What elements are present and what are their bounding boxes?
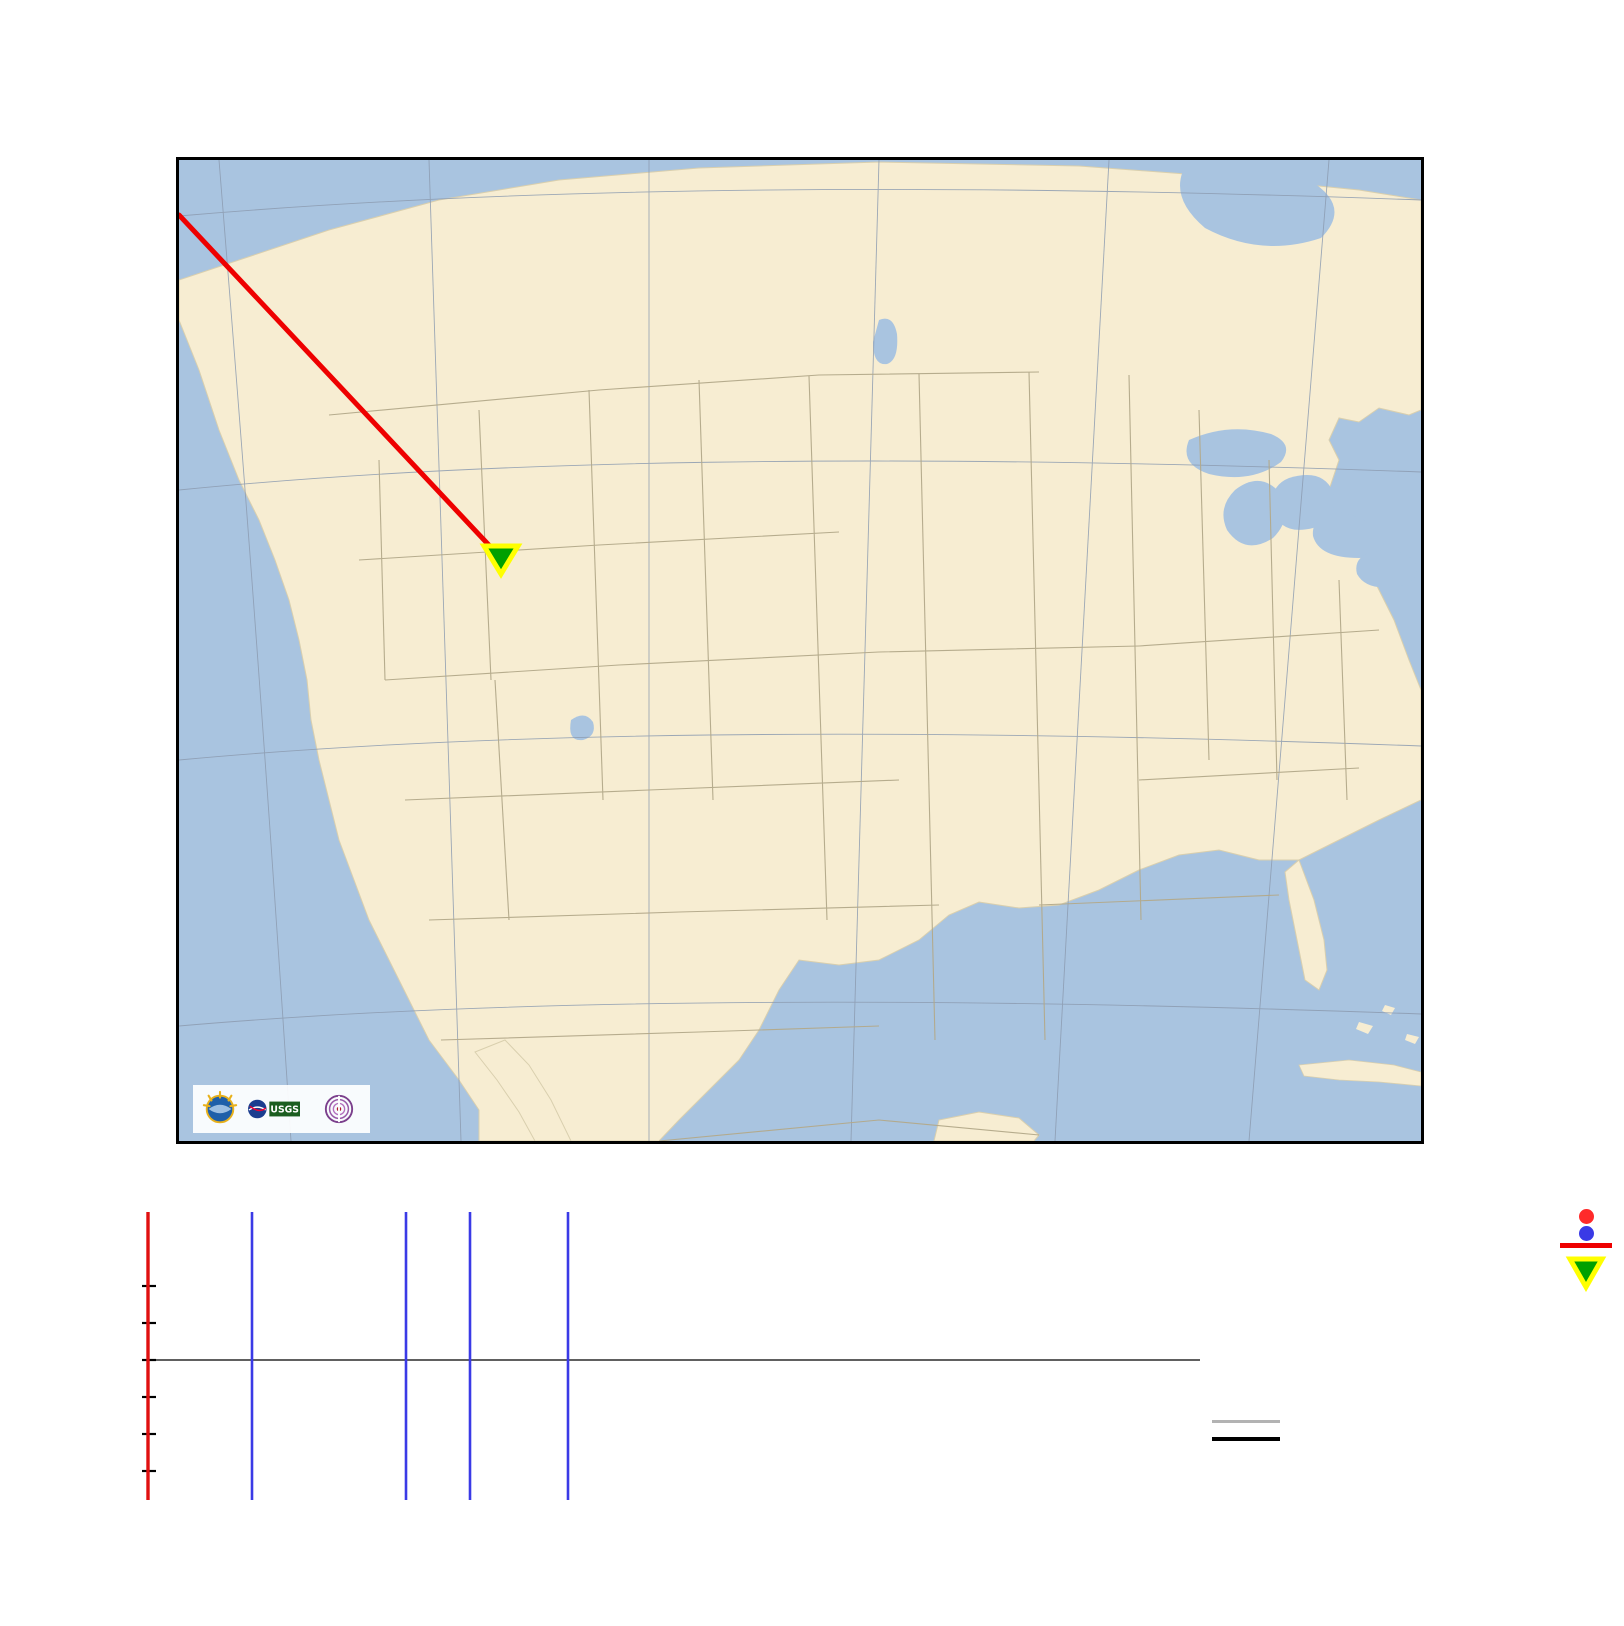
grey-line-icon	[1212, 1420, 1280, 1423]
seismogram-panel[interactable]	[140, 1212, 1200, 1500]
nasa-usgs-logo: USGS	[246, 1096, 302, 1122]
logo-strip: USGS	[193, 1085, 370, 1133]
legend-row-great-circle	[1195, 1243, 1615, 1248]
red-line-icon	[1560, 1243, 1612, 1248]
legend-row-reference-station	[1195, 1254, 1615, 1292]
blue-dot-icon	[1579, 1226, 1594, 1241]
motion-down-swatch	[1557, 1226, 1615, 1241]
red-dot-icon	[1579, 1209, 1594, 1224]
legend-row-motion-up	[1195, 1209, 1615, 1224]
reference-station-swatch	[1557, 1254, 1615, 1292]
svg-text:USGS: USGS	[270, 1105, 298, 1116]
motion-up-swatch	[1557, 1209, 1615, 1224]
legend-row-lhz-filtered	[1020, 1437, 1280, 1441]
seismogram-graphic	[140, 1212, 1200, 1500]
nsf-logo	[201, 1090, 239, 1128]
green-triangle-icon	[1565, 1254, 1607, 1292]
great-circle-swatch	[1557, 1243, 1615, 1248]
black-line-icon	[1212, 1437, 1280, 1441]
ground-motion-map[interactable]: USGS	[176, 157, 1424, 1144]
legend-row-motion-down	[1195, 1226, 1615, 1241]
earthscope-mark-icon	[323, 1093, 355, 1125]
trace-filter-legend	[1020, 1420, 1280, 1455]
map-graphic	[179, 160, 1421, 1141]
legend-row-lhz-no-filter	[1020, 1420, 1280, 1423]
figure-legend	[1195, 1205, 1615, 1294]
